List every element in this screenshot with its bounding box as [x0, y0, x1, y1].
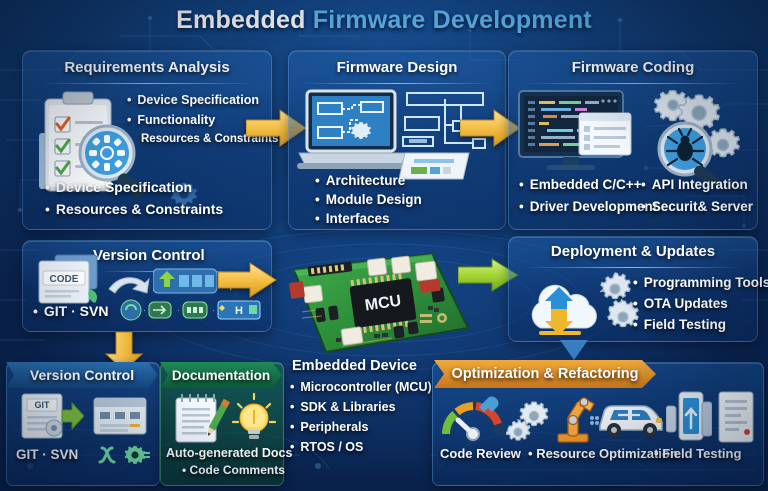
svg-text:·: ·	[212, 306, 215, 315]
embedded-device-board[interactable]: MCU	[276, 246, 476, 362]
svg-text:H: H	[235, 305, 243, 317]
page-title: Embedded Firmware Development	[0, 6, 768, 35]
divider	[303, 83, 491, 84]
tablet-chart-icon	[397, 147, 475, 185]
coding-bullet-left-1: Driver Development	[519, 199, 657, 214]
gauge-wrench-icon	[440, 392, 512, 442]
branch-icon	[105, 269, 151, 303]
svg-text:CODE: CODE	[50, 274, 79, 285]
documentation-caption-2-bullet: •	[182, 463, 186, 477]
notepad-pencil-icon	[170, 392, 232, 444]
coding-bullet-right-0: API Integration	[641, 177, 748, 192]
banner-documentation[interactable]: Documentation	[160, 362, 282, 388]
optimization-item-2-label: Field Testing	[662, 446, 741, 461]
vc-badge-row-icon: · · · H	[119, 299, 263, 321]
panel-title-design: Firmware Design	[289, 59, 505, 76]
version-control-label: GIT · SVN	[33, 303, 108, 319]
device-test-icon	[666, 390, 712, 444]
title-word-firmware-development: Firmware Development	[313, 6, 592, 34]
gears-icon	[506, 398, 550, 442]
requirements-icon-bullet-1: Functionality	[127, 113, 215, 127]
divider	[41, 83, 253, 84]
panel-firmware-coding[interactable]: Firmware Coding	[508, 50, 758, 230]
repo-window-icon	[92, 396, 148, 436]
optimization-item-2: • Field Testing	[654, 446, 741, 461]
design-bullet-1: Module Design	[315, 192, 422, 207]
embedded-device-bullet-3: RTOS / OS	[290, 440, 363, 454]
banner-optimization-label: Optimization & Refactoring	[452, 366, 639, 382]
svg-text:·: ·	[143, 306, 146, 315]
design-bullet-2: Interfaces	[315, 211, 390, 226]
banner-optimization-refactoring[interactable]: Optimization & Refactoring	[434, 360, 656, 388]
divider	[525, 83, 741, 84]
requirements-icon-bullet-0: Device Specification	[127, 93, 259, 107]
embedded-device-bullet-0: Microcontroller (MCU)	[290, 380, 432, 394]
design-bullet-0: Architecture	[315, 173, 405, 188]
banner-documentation-label: Documentation	[172, 368, 270, 383]
documentation-caption-1: Auto-generated Docs	[166, 446, 292, 460]
embedded-device-bullet-1: SDK & Libraries	[290, 400, 396, 414]
code-monitor-icon	[517, 89, 641, 173]
coding-bullet-right-1: Securit& Server	[641, 199, 753, 214]
panel-title-coding: Firmware Coding	[509, 59, 757, 76]
arrow-deployment-down	[560, 340, 588, 362]
laptop-diagram-icon	[297, 89, 409, 171]
gear-icon	[124, 444, 150, 466]
cloud-upload-download-icon	[517, 269, 609, 337]
panel-title-requirements: Requirements Analysis	[23, 59, 271, 76]
documentation-caption-2-label: Code Comments	[190, 463, 285, 477]
optimization-item-0: Code Review	[440, 446, 521, 461]
svg-text:GIT: GIT	[35, 400, 51, 410]
infographic-canvas: Embedded Firmware Development Requiremen…	[0, 0, 768, 491]
requirements-bullet-0: Device Specification	[45, 179, 192, 195]
deployment-bullet-2: Field Testing	[633, 317, 726, 332]
panel-requirements-analysis[interactable]: Requirements Analysis	[22, 50, 272, 230]
embedded-device-title: Embedded Device	[292, 358, 417, 374]
panel-deployment-updates[interactable]: Deployment & Updates Programming Tools O…	[508, 236, 758, 342]
panel-title-deployment: Deployment & Updates	[509, 243, 757, 260]
bottom-version-control-label: GIT · SVN	[16, 447, 78, 462]
requirements-bullet-1: Resources & Constraints	[45, 201, 223, 217]
optimization-item-1-bullet: •	[528, 446, 533, 461]
deployment-bullet-1: OTA Updates	[633, 296, 728, 311]
arrow-versioncontrol-to-device	[218, 262, 278, 298]
car-icon	[594, 396, 668, 442]
git-file-icon: GIT	[18, 392, 84, 442]
lightbulb-icon	[230, 392, 278, 444]
embedded-device-bullet-2: Peripherals	[290, 420, 368, 434]
robot-arm-icon	[548, 392, 600, 444]
embedded-device-textblock: Embedded Device Microcontroller (MCU) SD…	[286, 358, 446, 478]
merge-icon	[96, 444, 118, 466]
banner-version-control-label: Version Control	[30, 367, 134, 383]
coding-bullet-left-0: Embedded C/C++	[519, 177, 642, 192]
documentation-caption-2: • Code Comments	[182, 463, 285, 477]
svg-text:·: ·	[177, 306, 180, 315]
optimization-item-2-bullet: •	[654, 446, 659, 461]
deployment-bullet-0: Programming Tools	[633, 275, 768, 290]
magnifier-bug-icon	[637, 87, 749, 183]
report-icon	[716, 390, 756, 444]
title-word-embedded: Embedded	[176, 6, 305, 34]
divider	[525, 267, 741, 268]
banner-version-control[interactable]: Version Control	[6, 362, 158, 388]
